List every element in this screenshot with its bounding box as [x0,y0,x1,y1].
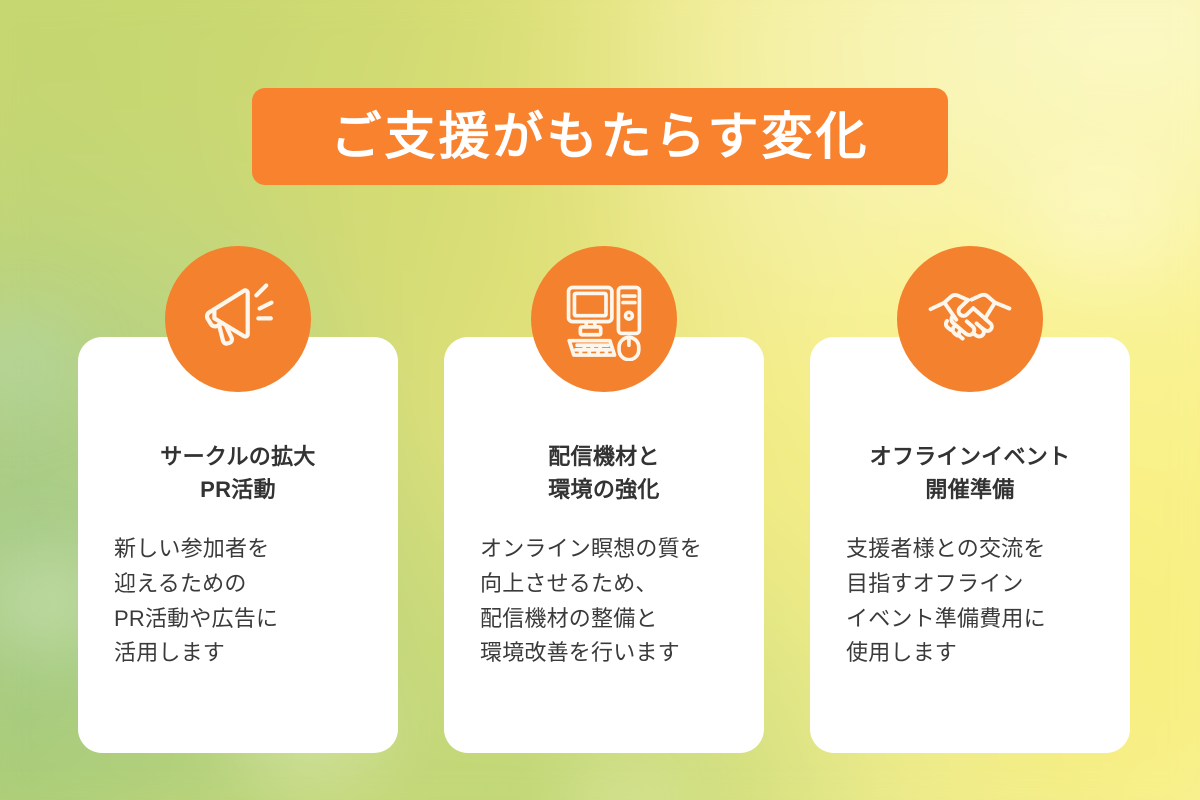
benefit-card: オフラインイベント 開催準備 支援者様との交流を 目指すオフライン イベント準備… [810,337,1130,753]
title-banner: ご支援がもたらす変化 [252,88,948,185]
megaphone-icon [196,277,280,361]
benefit-column-3: オフラインイベント 開催準備 支援者様との交流を 目指すオフライン イベント準備… [810,246,1130,766]
slide-canvas: ご支援がもたらす変化 サークルの拡大 PR活動 新しい参加者を 迎えるための P… [0,0,1200,800]
handshake-icon-badge [897,246,1043,392]
benefit-card-body: 新しい参加者を 迎えるための PR活動や広告に 活用します [96,506,380,671]
benefit-card-body: オンライン瞑想の質を 向上させるため、 配信機材の整備と 環境改善を行います [462,506,746,671]
desktop-computer-icon [562,277,646,361]
benefit-card-body: 支援者様との交流を 目指すオフライン イベント準備費用に 使用します [828,506,1112,671]
benefit-column-1: サークルの拡大 PR活動 新しい参加者を 迎えるための PR活動や広告に 活用し… [78,246,398,766]
benefit-card: 配信機材と 環境の強化 オンライン瞑想の質を 向上させるため、 配信機材の整備と… [444,337,764,753]
desktop-computer-icon-badge [531,246,677,392]
benefit-card: サークルの拡大 PR活動 新しい参加者を 迎えるための PR活動や広告に 活用し… [78,337,398,753]
megaphone-icon-badge [165,246,311,392]
handshake-icon [928,277,1012,361]
benefit-card-list: サークルの拡大 PR活動 新しい参加者を 迎えるための PR活動や広告に 活用し… [0,246,1200,766]
benefit-column-2: 配信機材と 環境の強化 オンライン瞑想の質を 向上させるため、 配信機材の整備と… [444,246,764,766]
page-title: ご支援がもたらす変化 [331,111,870,162]
